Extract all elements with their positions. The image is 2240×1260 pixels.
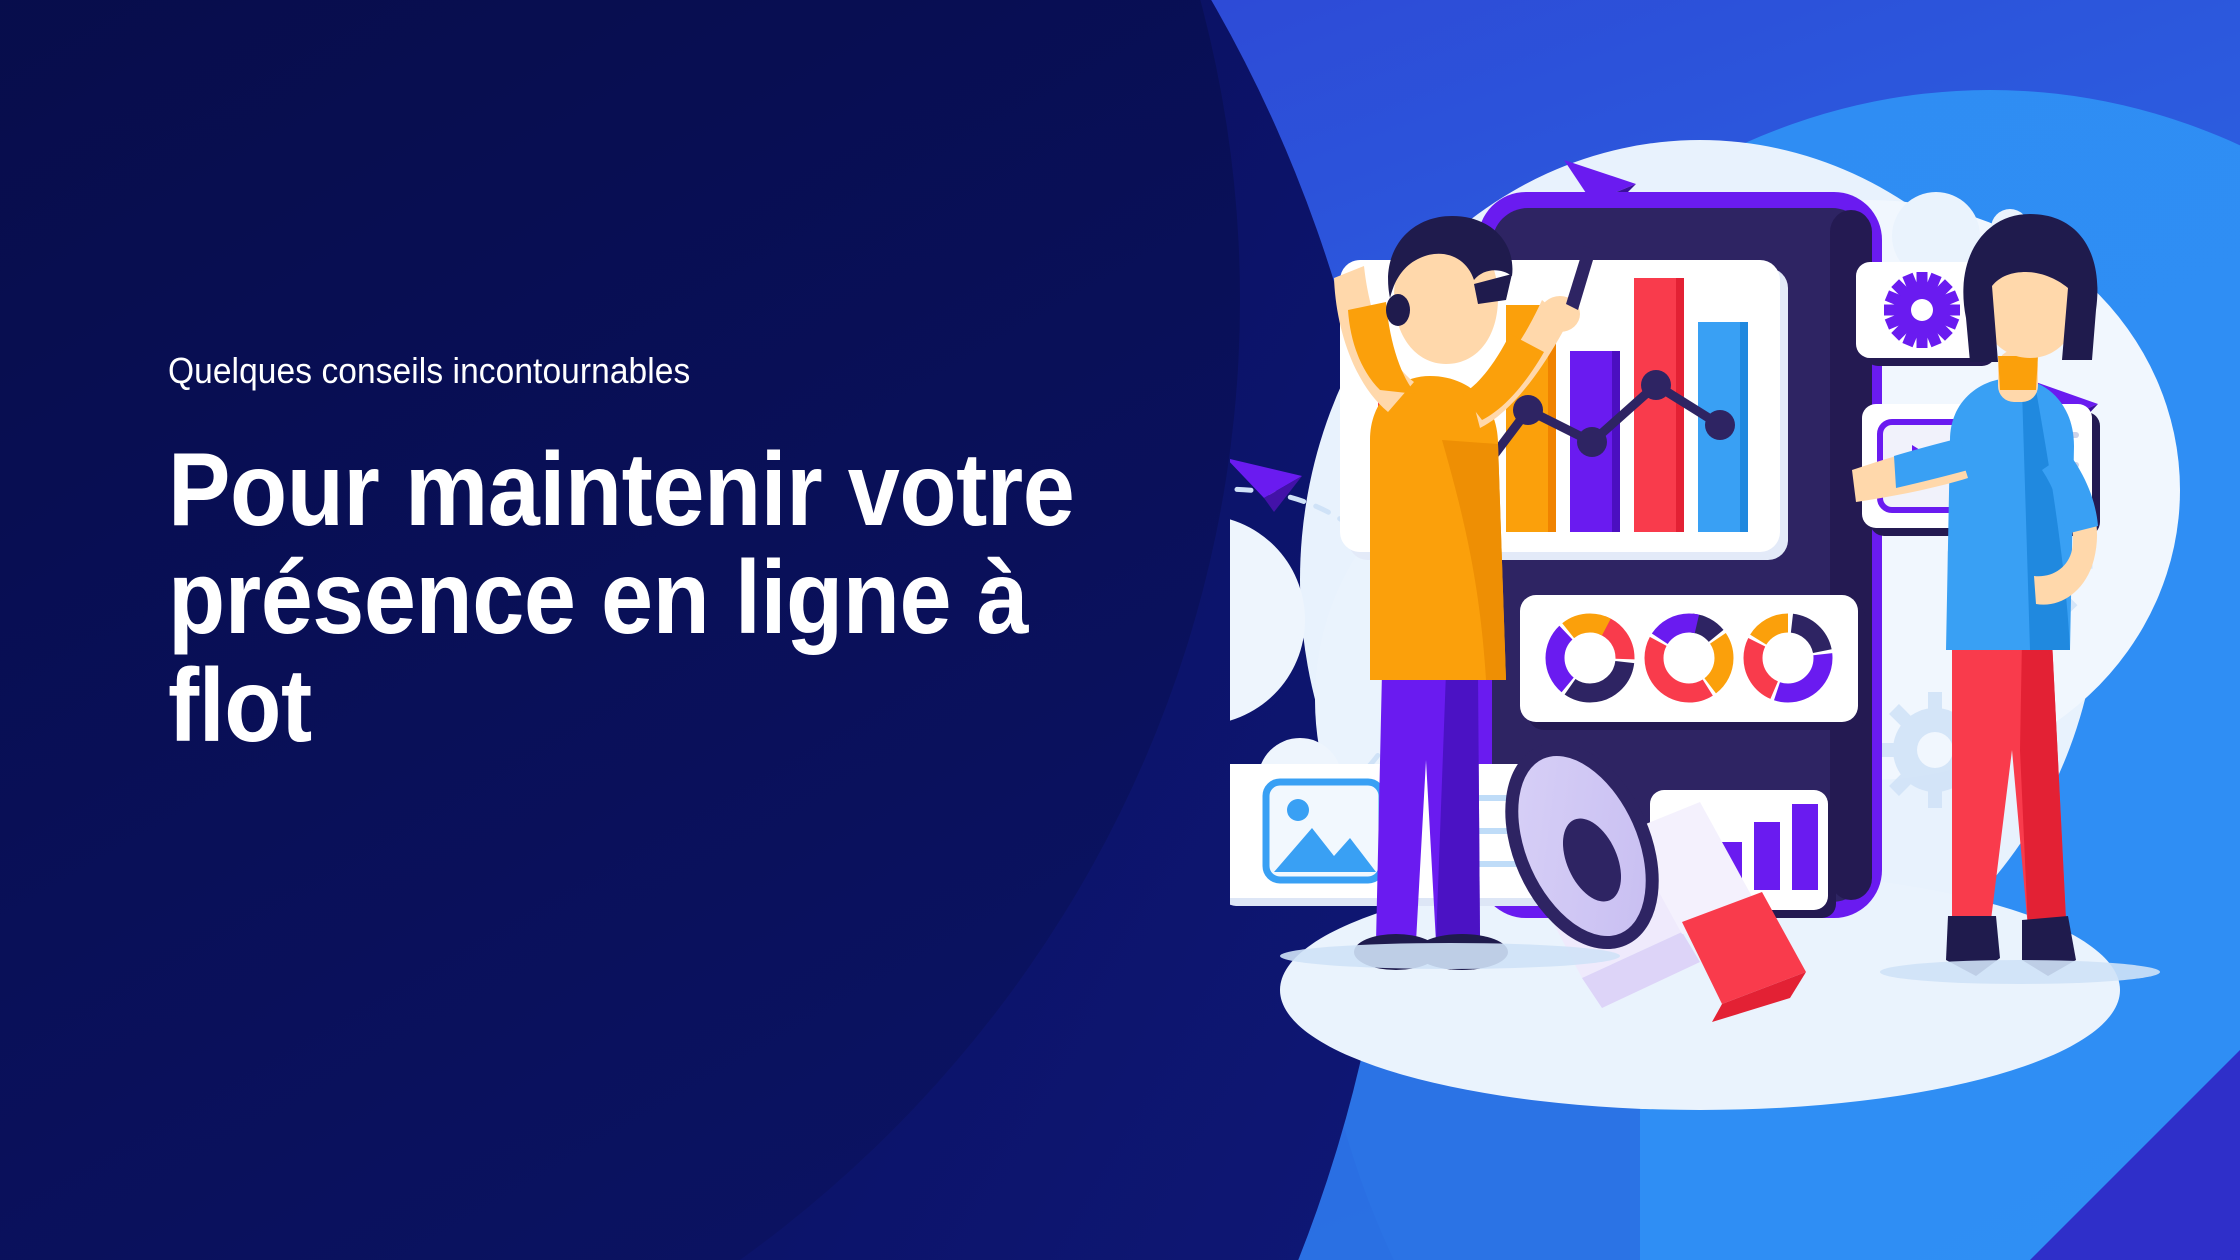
page-title: Pour maintenir votre présence en ligne à… <box>168 436 1194 760</box>
banner-root: Quelques conseils incontournables Pour m… <box>0 0 2240 1260</box>
gear-icon <box>1884 272 1960 348</box>
donut-chart-card <box>1520 595 1866 730</box>
illustration <box>1230 60 2240 1140</box>
headline-text: Pour maintenir votre présence en ligne à… <box>168 432 1074 764</box>
eyebrow-text: Quelques conseils incontournables <box>168 350 1228 392</box>
text-block: Quelques conseils incontournables Pour m… <box>168 350 1308 760</box>
